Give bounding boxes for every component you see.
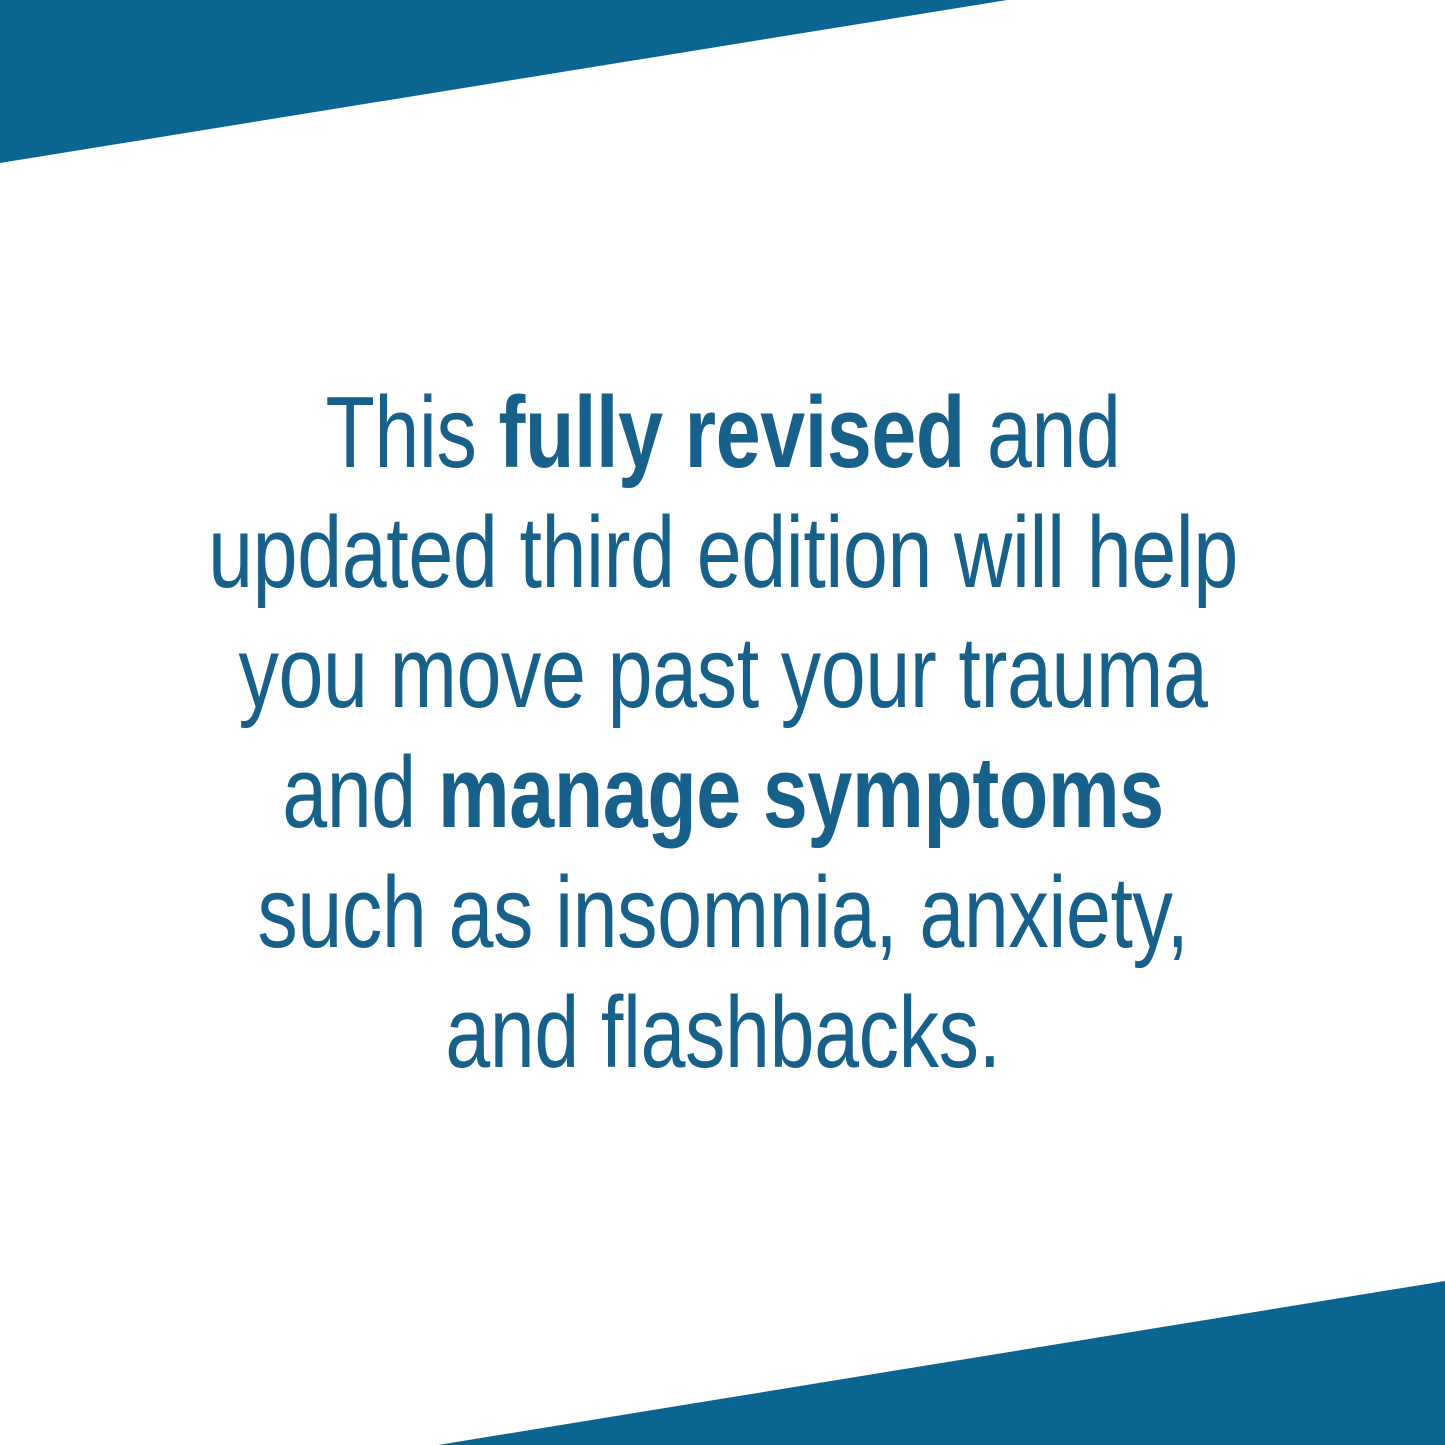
promo-emphasis-fully-revised: fully revised (498, 377, 964, 489)
promo-headline: This fully revised and updated third edi… (73, 373, 1373, 1093)
top-left-angled-band (0, 0, 1007, 163)
promo-emphasis-manage-symptoms: manage symptoms (437, 737, 1163, 849)
promo-text-part-3: such as insomnia, anxiety, and flashback… (257, 857, 1188, 1089)
promo-headline-inner: This fully revised and updated third edi… (203, 373, 1243, 1093)
promo-banner: This fully revised and updated third edi… (0, 0, 1445, 1445)
bottom-right-angled-band (438, 1281, 1445, 1445)
promo-text-part-1: This (325, 377, 498, 489)
